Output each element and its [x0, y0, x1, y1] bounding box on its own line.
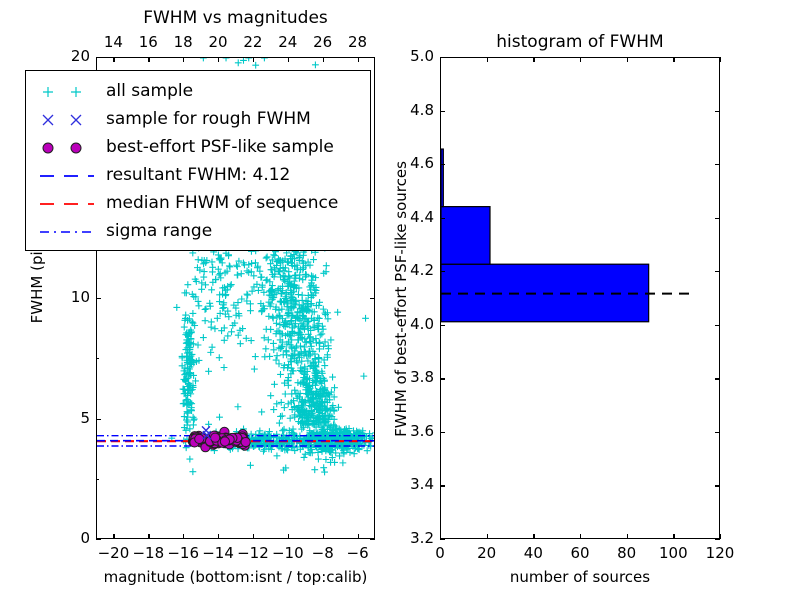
right-yaxis-label: FWHM of best-effort PSF-like sources [392, 58, 410, 540]
axis-tick [440, 218, 445, 219]
right-panel-title: histogram of FWHM [440, 32, 720, 52]
legend-item-label: best-effort PSF-like sample [106, 137, 334, 157]
axis-tick [288, 57, 289, 62]
axis-tick [720, 534, 721, 539]
axis-tick [440, 111, 445, 112]
histogram-data-layer [441, 58, 719, 538]
axis-tick-label: 28 [328, 33, 388, 51]
axis-tick [96, 539, 101, 540]
dashed-line [32, 163, 104, 189]
axis-tick [715, 325, 720, 326]
legend-item-label: resultant FWHM: 4.12 [106, 165, 290, 185]
axis-tick [323, 534, 324, 539]
histogram-axes[interactable] [440, 57, 720, 539]
axis-tick-label: 5 [48, 409, 90, 427]
axis-tick [440, 378, 445, 379]
axis-tick [715, 271, 720, 272]
left-panel-title: FWHM vs magnitudes [96, 8, 375, 28]
axis-tick [358, 534, 359, 539]
axis-tick [715, 485, 720, 486]
legend[interactable]: all samplesample for rough FWHMbest-effo… [25, 70, 371, 251]
axis-tick [183, 534, 184, 539]
axis-tick [218, 534, 219, 539]
axis-tick [720, 57, 721, 62]
axis-tick [323, 57, 324, 62]
axis-tick [96, 479, 99, 480]
axis-tick [218, 57, 219, 62]
axis-tick [113, 57, 114, 62]
axis-tick-label: −6 [328, 544, 388, 562]
axis-tick-label: 120 [690, 544, 750, 562]
axis-tick [148, 57, 149, 62]
right-xaxis-label: number of sources [440, 568, 720, 586]
axis-tick [183, 57, 184, 62]
axis-tick [96, 298, 101, 299]
dashdot-line [32, 219, 104, 245]
axis-tick [715, 218, 720, 219]
axis-tick [358, 57, 359, 62]
legend-item-label: median FHWM of sequence [106, 193, 338, 213]
axis-tick [440, 57, 441, 62]
axis-tick [440, 325, 445, 326]
legend-item-label: sigma range [106, 221, 212, 241]
axis-tick [96, 358, 99, 359]
axis-tick [487, 57, 488, 62]
axis-tick [113, 534, 114, 539]
legend-item-label: sample for rough FWHM [106, 109, 311, 129]
psf-sample-points [188, 427, 250, 452]
axis-tick [370, 539, 375, 540]
axis-tick [148, 534, 149, 539]
axis-tick [715, 164, 720, 165]
legend-item[interactable]: resultant FWHM: 4.12 [26, 163, 370, 193]
figure-canvas: FWHM vs magnitudes 1416182022242628 −20−… [0, 0, 800, 600]
left-xaxis-label: magnitude (bottom:isnt / top:calib) [96, 568, 375, 586]
plus-marker [32, 79, 104, 105]
axis-tick [96, 57, 101, 58]
axis-tick [288, 534, 289, 539]
dashed-line [32, 191, 104, 217]
axis-tick [533, 57, 534, 62]
axis-tick [253, 57, 254, 62]
axis-tick [580, 57, 581, 62]
axis-tick [370, 57, 375, 58]
axis-tick [253, 534, 254, 539]
axis-tick [715, 378, 720, 379]
axis-tick [580, 534, 581, 539]
axis-tick-label: 20 [48, 47, 90, 65]
axis-tick [715, 111, 720, 112]
axis-tick [440, 539, 445, 540]
axis-tick [440, 271, 445, 272]
axis-tick [96, 419, 101, 420]
legend-item[interactable]: median FHWM of sequence [26, 191, 370, 221]
cross-marker [32, 107, 104, 133]
axis-tick [533, 534, 534, 539]
axis-tick [673, 534, 674, 539]
axis-tick [440, 432, 445, 433]
axis-tick [370, 419, 375, 420]
axis-tick-label: 10 [48, 288, 90, 306]
circle-marker [32, 135, 104, 161]
legend-item[interactable]: sigma range [26, 219, 370, 249]
legend-item[interactable]: best-effort PSF-like sample [26, 135, 370, 165]
axis-tick [627, 534, 628, 539]
legend-item-label: all sample [106, 81, 193, 101]
axis-tick [673, 57, 674, 62]
axis-tick [440, 485, 445, 486]
axis-tick [440, 164, 445, 165]
axis-tick [370, 298, 375, 299]
axis-tick [715, 432, 720, 433]
legend-item[interactable]: all sample [26, 79, 370, 109]
axis-tick [440, 534, 441, 539]
axis-tick [487, 534, 488, 539]
axis-tick [715, 539, 720, 540]
histogram-bars [441, 149, 649, 322]
axis-tick [627, 57, 628, 62]
axis-tick-label: 0 [48, 529, 90, 547]
legend-item[interactable]: sample for rough FWHM [26, 107, 370, 137]
